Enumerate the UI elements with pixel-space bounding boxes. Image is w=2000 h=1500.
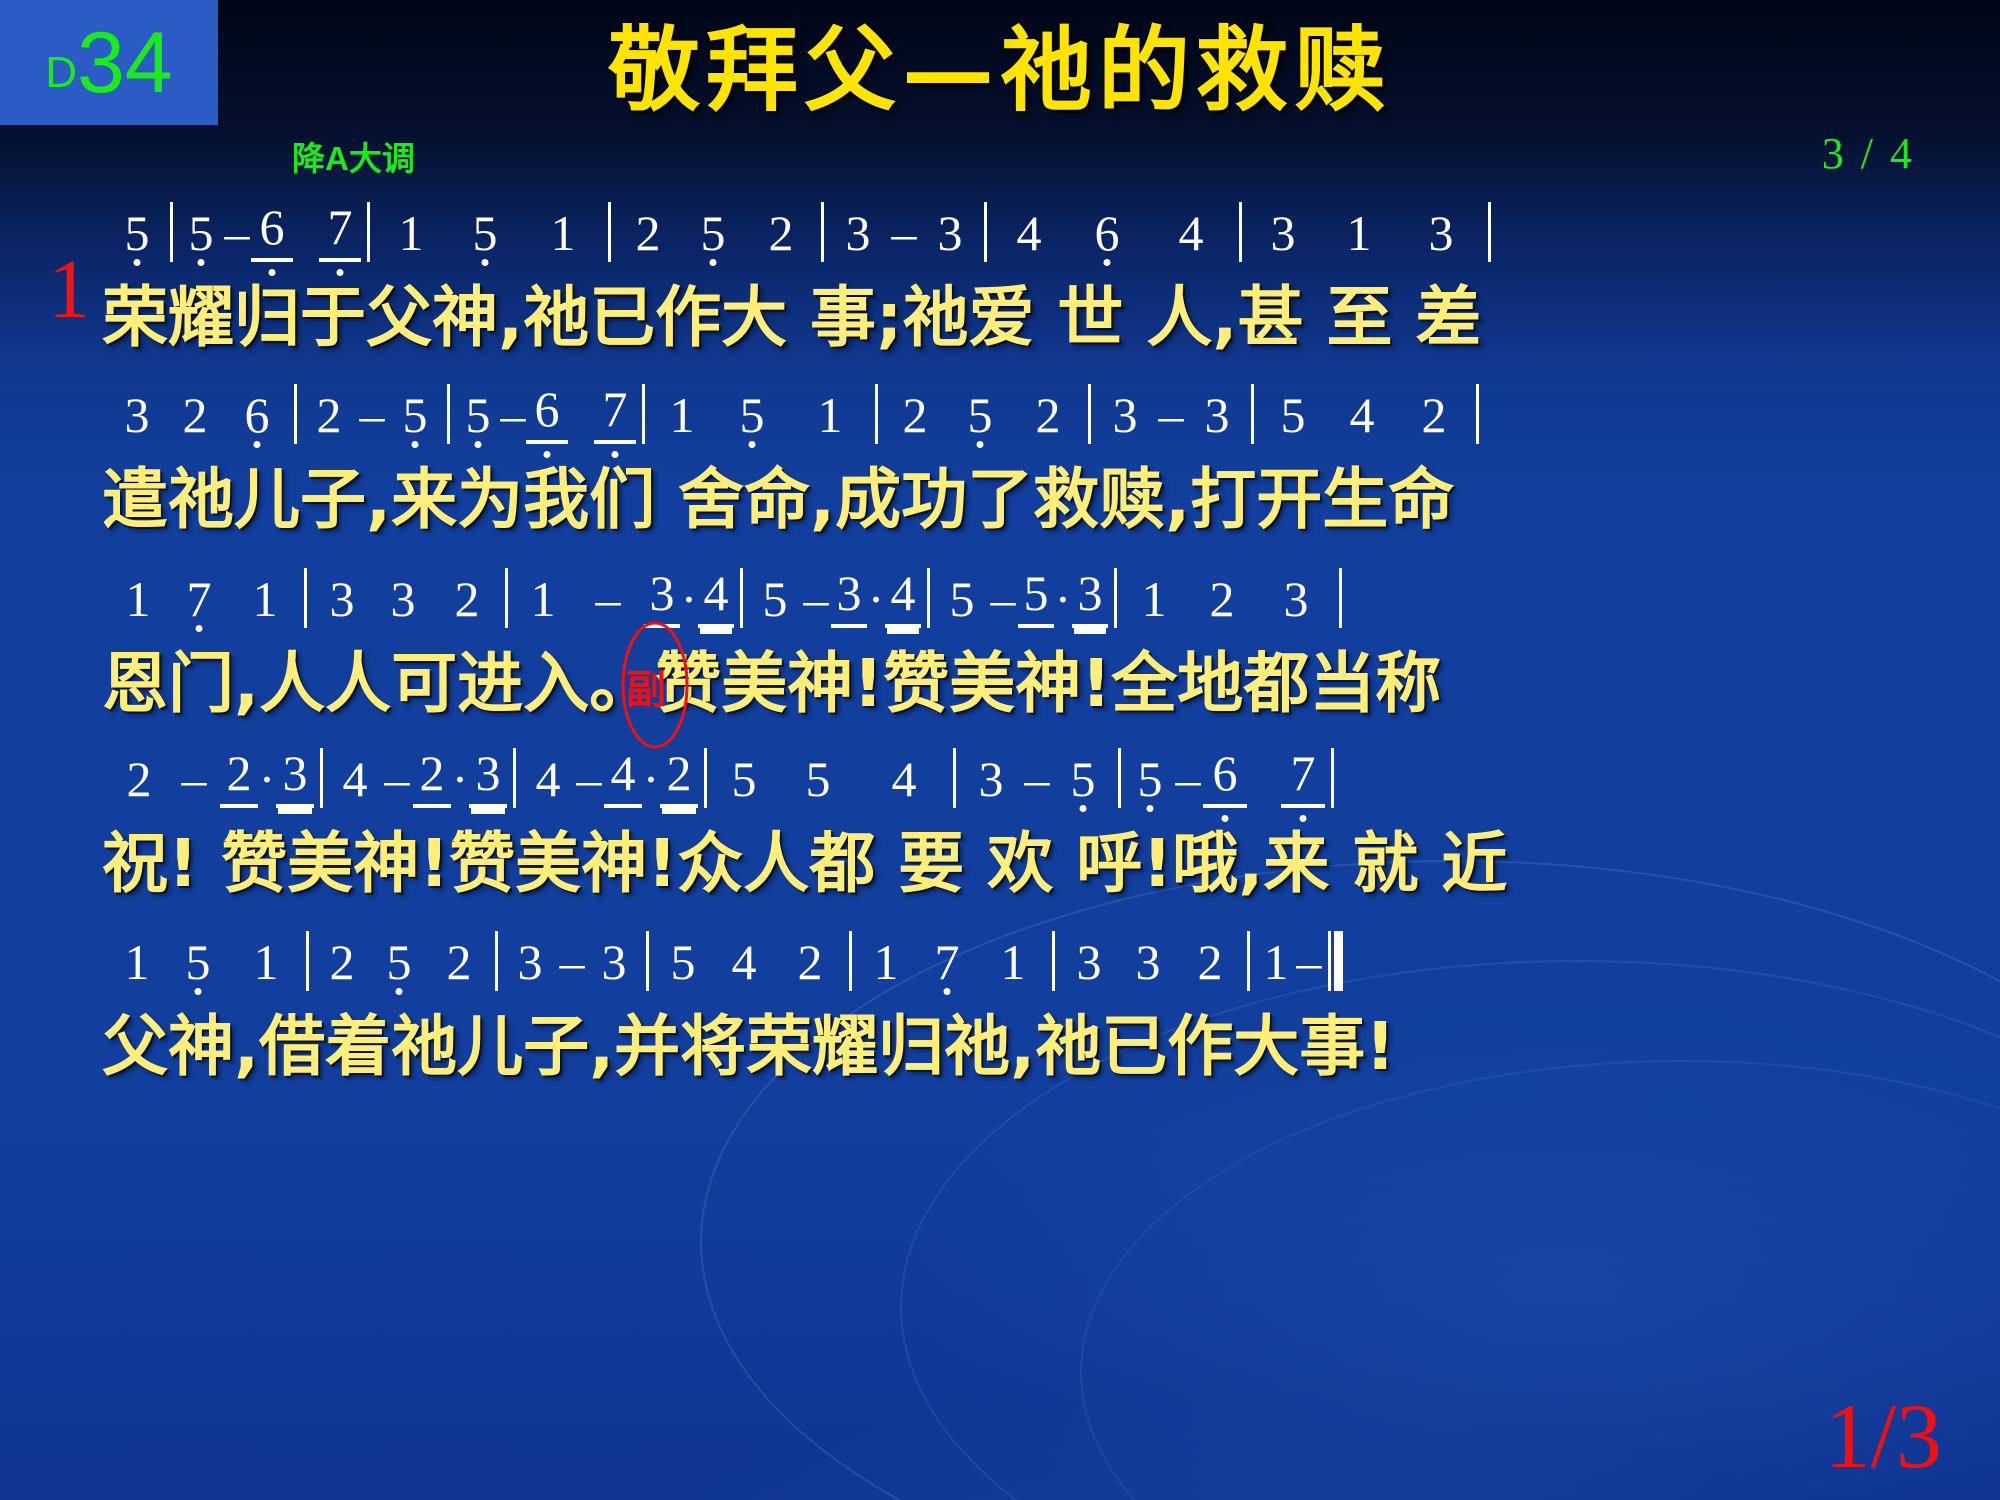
note: 2 — [777, 933, 843, 991]
note: 1 — [232, 570, 298, 628]
note-dash: – — [801, 570, 831, 628]
note: 4 — [329, 750, 381, 808]
note: 1 — [110, 570, 166, 628]
note: 5 — [1018, 564, 1054, 628]
barline — [642, 384, 645, 444]
barline — [320, 748, 323, 808]
note: 3 — [313, 570, 371, 628]
measure: 3 – 3 — [1097, 386, 1245, 444]
slide-canvas: D34 敬拜父—祂的救赎 降A大调 3 / 4 1 1/3 5 5 – 6 7 … — [0, 0, 2000, 1500]
note: 5 — [1127, 750, 1173, 808]
note: 3 — [504, 933, 556, 991]
note: 3 — [1072, 564, 1108, 628]
measure: 1 7 1 — [110, 570, 298, 628]
note: 2 — [747, 204, 815, 262]
note-dash: – — [988, 570, 1018, 628]
note: 4 — [1149, 204, 1233, 262]
music-system-3: 1 7 1 3 3 2 1 – 3 · 4 5 – 3 — [110, 562, 1900, 726]
note: 1 — [524, 204, 602, 262]
note: 2 — [1185, 570, 1259, 628]
note: 6 — [1065, 204, 1149, 262]
note: 1 — [980, 933, 1046, 991]
note: 3 — [922, 204, 978, 262]
lyrics-row-4: 祝! 赞美神!赞美神!众人都 要 欢 呼!哦,来 就 近 — [102, 810, 1900, 906]
note: 5 — [936, 570, 988, 628]
note: 5 — [655, 933, 711, 991]
chorus-mark-label: 副 — [626, 670, 666, 710]
note: 6 — [526, 380, 568, 444]
lyrics-row-3-text: 恩门,人人可进入。赞美神!赞美神!全地都当称 — [102, 645, 1441, 722]
note: 1 — [651, 386, 713, 444]
note: 5 — [713, 750, 775, 808]
barline-final-thin — [1328, 931, 1331, 991]
barline — [740, 568, 743, 628]
measure: 1 5 1 — [651, 386, 869, 444]
note-dash: – — [1296, 933, 1322, 991]
barline — [984, 202, 987, 262]
note: 5 — [110, 204, 164, 262]
note: 7 — [914, 933, 980, 991]
note: 2 — [220, 744, 258, 808]
barline — [821, 202, 824, 262]
measure: 3 3 2 — [313, 570, 499, 628]
note: 5 — [1054, 750, 1112, 808]
barline — [1239, 202, 1242, 262]
lyrics-row-2: 遣祂儿子,来为我们 舍命,成功了救赎,打开生命 — [102, 446, 1900, 542]
note: 6 — [251, 198, 293, 262]
barline — [170, 202, 173, 262]
lyrics-row-5: 父神,借着祂儿子,并将荣耀归祂,祂已作大事! — [102, 993, 1900, 1089]
barline — [306, 931, 309, 991]
note: 5 — [389, 386, 441, 444]
dotted-rhythm-dot: · — [642, 750, 660, 808]
barline — [875, 384, 878, 444]
barline — [495, 931, 498, 991]
measure: 3 3 2 — [1061, 933, 1241, 991]
page-number: 1/3 — [1824, 1390, 1942, 1482]
note-dash: – — [886, 204, 922, 262]
barline — [927, 568, 930, 628]
note: 5 — [179, 204, 223, 262]
page-title: 敬拜父—祂的救赎 — [0, 22, 2000, 119]
note: 2 — [617, 204, 679, 262]
measure: 1 – — [1256, 933, 1322, 991]
note: 6 — [226, 386, 288, 444]
measure: 5 – 6 7 — [1127, 744, 1325, 808]
measure: 2 – 5 — [303, 386, 441, 444]
note: 5 — [164, 933, 232, 991]
note: 2 — [1179, 933, 1241, 991]
measure: 3 2 6 — [110, 386, 288, 444]
notation-row-5: 1 5 1 2 5 2 3 – 3 5 4 2 — [110, 925, 1900, 991]
barline — [367, 202, 370, 262]
note: 7 — [319, 198, 361, 262]
note: 5 — [775, 750, 861, 808]
note: 3 — [1189, 386, 1245, 444]
note: 2 — [303, 386, 355, 444]
barline — [1339, 568, 1342, 628]
measure: 3 1 3 — [1248, 204, 1482, 262]
note: 1 — [1318, 204, 1400, 262]
note-dash: – — [223, 204, 251, 262]
note: 1 — [1123, 570, 1185, 628]
note: 3 — [831, 564, 867, 628]
barline — [1114, 568, 1117, 628]
note: 3 — [962, 750, 1020, 808]
barline — [505, 568, 508, 628]
measure: 4 6 4 — [993, 204, 1233, 262]
notation-row-2: 3 2 6 2 – 5 5 – 6 7 1 5 1 — [110, 378, 1900, 444]
dotted-rhythm-dot: · — [258, 750, 276, 808]
barline — [1488, 202, 1491, 262]
note: 4 — [522, 750, 574, 808]
note: 4 — [698, 564, 734, 628]
notation-row-1: 5 5 – 6 7 1 5 1 2 5 2 3 — [110, 196, 1900, 262]
barline — [1118, 748, 1121, 808]
note: 3 — [469, 744, 507, 808]
note: 5 — [1260, 386, 1326, 444]
barline — [1331, 748, 1334, 808]
note: 4 — [1326, 386, 1398, 444]
note: 7 — [166, 570, 232, 628]
barline — [849, 931, 852, 991]
dotted-rhythm-dot: · — [451, 750, 469, 808]
key-signature: 降A大调 — [292, 132, 415, 180]
note: 3 — [1400, 204, 1482, 262]
note: 3 — [276, 744, 314, 808]
note: 3 — [1097, 386, 1153, 444]
note-dash: – — [381, 750, 413, 808]
note: 5 — [446, 204, 524, 262]
note-dash: – — [1173, 750, 1203, 808]
note: 1 — [514, 570, 572, 628]
music-system-4: 2 – 2 · 3 4 – 2 · 3 4 – 4 · 2 — [110, 742, 1900, 906]
note: 4 — [711, 933, 777, 991]
note: 2 — [110, 750, 168, 808]
note: 1 — [1256, 933, 1296, 991]
measure: 1 7 1 — [858, 933, 1046, 991]
barline — [1251, 384, 1254, 444]
note: 5 — [456, 386, 500, 444]
note: 1 — [110, 933, 164, 991]
note: 1 — [232, 933, 300, 991]
music-system-5: 1 5 1 2 5 2 3 – 3 5 4 2 — [110, 925, 1900, 1089]
note: 3 — [588, 933, 640, 991]
note: 4 — [861, 750, 947, 808]
measure: 1 2 3 — [1123, 570, 1333, 628]
dotted-rhythm-dot: · — [1054, 570, 1072, 628]
barline — [704, 748, 707, 808]
note: 5 — [713, 386, 791, 444]
barline — [513, 748, 516, 808]
note: 3 — [110, 386, 164, 444]
note-dash: – — [355, 386, 389, 444]
note: 2 — [435, 570, 499, 628]
note: 3 — [1117, 933, 1179, 991]
note: 1 — [858, 933, 914, 991]
barline — [294, 384, 297, 444]
measure: 5 – 6 7 — [179, 198, 361, 262]
note: 3 — [371, 570, 435, 628]
lyrics-row-3: 恩门,人人可进入。赞美神!赞美神!全地都当称 — [102, 630, 1900, 726]
measure: 3 – 3 — [504, 933, 640, 991]
barline — [1052, 931, 1055, 991]
measure: 5 4 2 — [655, 933, 843, 991]
measure: 2 5 2 — [617, 204, 815, 262]
note: 2 — [315, 933, 369, 991]
note: 3 — [1259, 570, 1333, 628]
note: 2 — [660, 744, 698, 808]
note: 1 — [376, 204, 446, 262]
barline-final-thick — [1334, 931, 1343, 991]
dotted-rhythm-dot: · — [867, 570, 885, 628]
barline — [646, 931, 649, 991]
note-dash: – — [556, 933, 588, 991]
note: 4 — [885, 564, 921, 628]
measure: 5 4 2 — [1260, 386, 1470, 444]
barline — [1476, 384, 1479, 444]
note-dash: – — [500, 386, 526, 444]
lyrics-row-1: 荣耀归于父神,祂已作大 事;祂爱 世 人,甚 至 差 — [102, 264, 1900, 360]
note-dash: – — [1153, 386, 1189, 444]
barline — [447, 384, 450, 444]
note-dash: – — [574, 750, 604, 808]
measure: 4 – 2 · 3 — [329, 744, 507, 808]
measure: 3 – 5 — [962, 750, 1112, 808]
note: 5 — [749, 570, 801, 628]
music-system-1: 5 5 – 6 7 1 5 1 2 5 2 3 — [110, 196, 1900, 360]
note: 7 — [594, 380, 636, 444]
music-system-2: 3 2 6 2 – 5 5 – 6 7 1 5 1 — [110, 378, 1900, 542]
notation-row-3: 1 7 1 3 3 2 1 – 3 · 4 5 – 3 — [110, 562, 1900, 628]
note: 2 — [164, 386, 226, 444]
note: 7 — [1281, 744, 1325, 808]
measure: 5 5 4 — [713, 750, 947, 808]
measure: 3 – 3 — [830, 204, 978, 262]
note: 5 — [369, 933, 429, 991]
note: 3 — [830, 204, 886, 262]
time-signature: 3 / 4 — [1822, 128, 1915, 179]
barline — [1247, 931, 1250, 991]
measure: 5 – 6 7 — [456, 380, 636, 444]
measure: 1 5 1 — [376, 204, 602, 262]
note: 4 — [604, 744, 642, 808]
measure: 5 – 3 · 4 — [749, 564, 921, 628]
barline — [608, 202, 611, 262]
measure: 4 – 4 · 2 — [522, 744, 698, 808]
note: 6 — [1203, 744, 1247, 808]
note: 5 — [679, 204, 747, 262]
note: 3 — [1061, 933, 1117, 991]
note: 3 — [1248, 204, 1318, 262]
note: 2 — [884, 386, 946, 444]
measure: 2 5 2 — [884, 386, 1082, 444]
barline — [953, 748, 956, 808]
note-dash: – — [168, 750, 220, 808]
note: 2 — [413, 744, 451, 808]
barline — [304, 568, 307, 628]
measure: 2 – 2 · 3 — [110, 744, 314, 808]
note: 2 — [429, 933, 489, 991]
note: 1 — [791, 386, 869, 444]
notation-row-4: 2 – 2 · 3 4 – 2 · 3 4 – 4 · 2 — [110, 742, 1900, 808]
measure: 5 – 5 · 3 — [936, 564, 1108, 628]
note: 2 — [1398, 386, 1470, 444]
measure: 2 5 2 — [315, 933, 489, 991]
note: 4 — [993, 204, 1065, 262]
measure: 1 5 1 — [110, 933, 300, 991]
barline — [1088, 384, 1091, 444]
note-dash: – — [1020, 750, 1054, 808]
verse-number: 1 — [48, 248, 90, 332]
note: 5 — [946, 386, 1014, 444]
note: 2 — [1014, 386, 1082, 444]
